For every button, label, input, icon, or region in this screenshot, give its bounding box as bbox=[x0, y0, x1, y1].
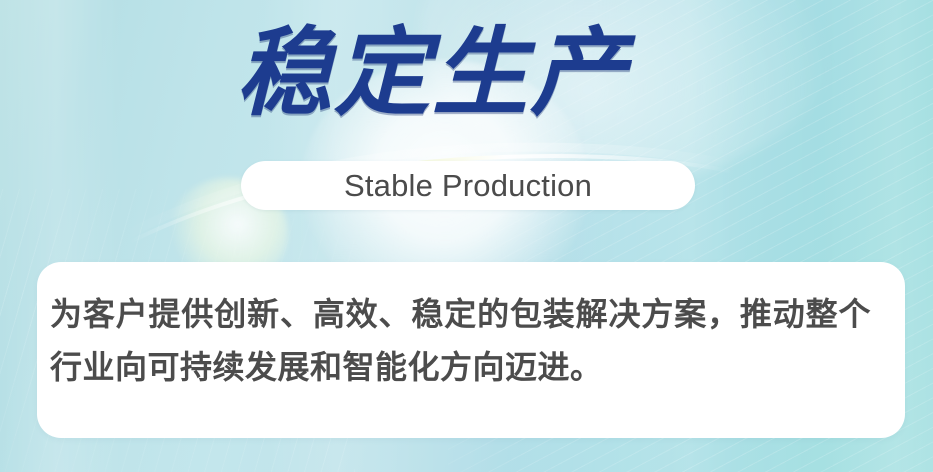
description-text: 为客户提供创新、高效、稳定的包装解决方案，推动整个行业向可持续发展和智能化方向迈… bbox=[50, 288, 871, 394]
stable-production-banner: 稳定生产 Stable Production 为客户提供创新、高效、稳定的包装解… bbox=[0, 0, 933, 472]
page-title: 稳定生产 bbox=[236, 18, 628, 130]
subtitle-pill: Stable Production bbox=[241, 161, 695, 210]
subtitle-text: Stable Production bbox=[344, 170, 592, 201]
description-card: 为客户提供创新、高效、稳定的包装解决方案，推动整个行业向可持续发展和智能化方向迈… bbox=[37, 262, 905, 438]
